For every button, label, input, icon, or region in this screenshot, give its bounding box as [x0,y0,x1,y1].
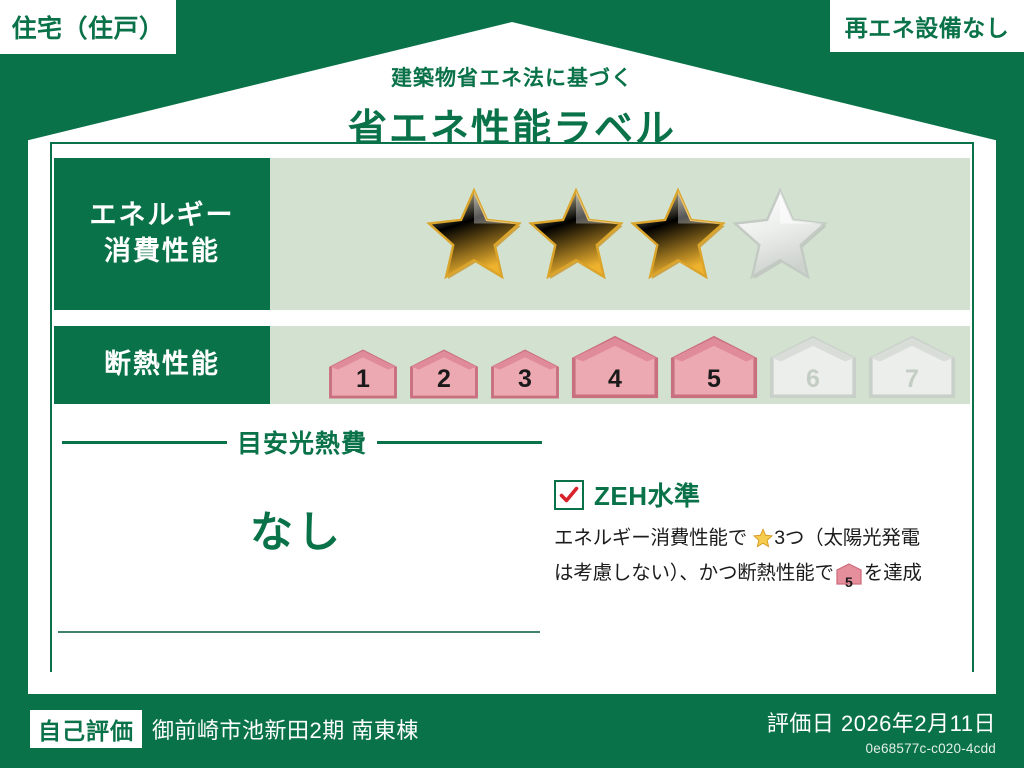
heading-rule-right [377,441,542,444]
utility-cost-heading-text: 目安光熱費 [237,424,367,460]
label-id: 0e68577c-c020-4cdd [767,741,996,756]
zeh-heading: ZEH水準 [554,476,954,513]
evaluation-date: 評価日 2026年2月11日 [767,706,996,738]
badge-renewable-energy: 再エネ設備なし [830,0,1024,52]
zeh-title: ZEH水準 [594,476,701,513]
insulation-house-active: 2 [407,348,481,400]
star-rating [426,186,828,282]
star-filled-icon [426,186,522,282]
zeh-description: エネルギー消費性能で 3つ（太陽光発電 は考慮しない）、かつ断熱性能で 5 を達… [554,523,954,595]
zeh-text-part3: は考慮しない）、かつ断熱性能で [554,562,834,584]
zeh-text-part4: を達成 [864,562,922,584]
zeh-standard-block: ZEH水準 エネルギー消費性能で 3つ（太陽光発電 は考慮しない）、かつ断熱性能… [554,476,954,595]
energy-label-line2: 消費性能 [104,234,220,270]
utility-cost-value: なし [62,498,532,560]
star-filled-icon [630,186,726,282]
utility-cost-heading: 目安光熱費 [62,424,542,460]
energy-label-card: 住宅（住戸） 再エネ設備なし 建築物省エネ法に基づく 省エネ性能ラベル エネルギ… [0,0,1024,768]
label-footer: 自己評価 御前崎市池新田2期 南東棟 評価日 2026年2月11日 0e6857… [0,694,1024,768]
footer-right: 評価日 2026年2月11日 0e68577c-c020-4cdd [767,706,996,756]
zeh-text-part2: 3つ（太陽光発電 [774,527,920,549]
property-name: 御前崎市池新田2期 南東棟 [152,713,419,745]
title-subtitle: 建築物省エネ法に基づく [0,62,1024,92]
star-empty-icon [732,186,828,282]
insulation-house-active: 4 [569,334,661,400]
insulation-performance-value: 1234567 [270,326,970,404]
insulation-house-active: 1 [326,348,400,400]
inline-house-icon: 5 [836,563,862,595]
evaluation-type-badge: 自己評価 [30,710,142,748]
label-title-block: 建築物省エネ法に基づく 省エネ性能ラベル [0,62,1024,154]
insulation-house-inactive: 7 [866,334,958,400]
zeh-text-part1: エネルギー消費性能で [554,527,747,549]
insulation-house-inactive: 6 [767,334,859,400]
inline-house-level: 5 [836,571,862,593]
insulation-level-scale: 1234567 [326,330,958,400]
star-filled-icon [528,186,624,282]
insulation-performance-row: 断熱性能 1234567 [54,326,970,404]
utility-cost-divider [58,631,540,633]
energy-performance-row: エネルギー 消費性能 [54,158,970,310]
inline-star-icon [748,531,773,553]
energy-performance-value [270,158,970,310]
energy-label-line1: エネルギー [90,198,235,234]
checkmark-icon [554,480,584,510]
insulation-performance-label: 断熱性能 [54,326,270,404]
badge-building-type: 住宅（住戸） [0,0,176,54]
heading-rule-left [62,441,227,444]
footer-left: 自己評価 御前崎市池新田2期 南東棟 [30,710,419,748]
energy-performance-label: エネルギー 消費性能 [54,158,270,310]
insulation-house-active: 3 [488,348,562,400]
insulation-house-active: 5 [668,334,760,400]
